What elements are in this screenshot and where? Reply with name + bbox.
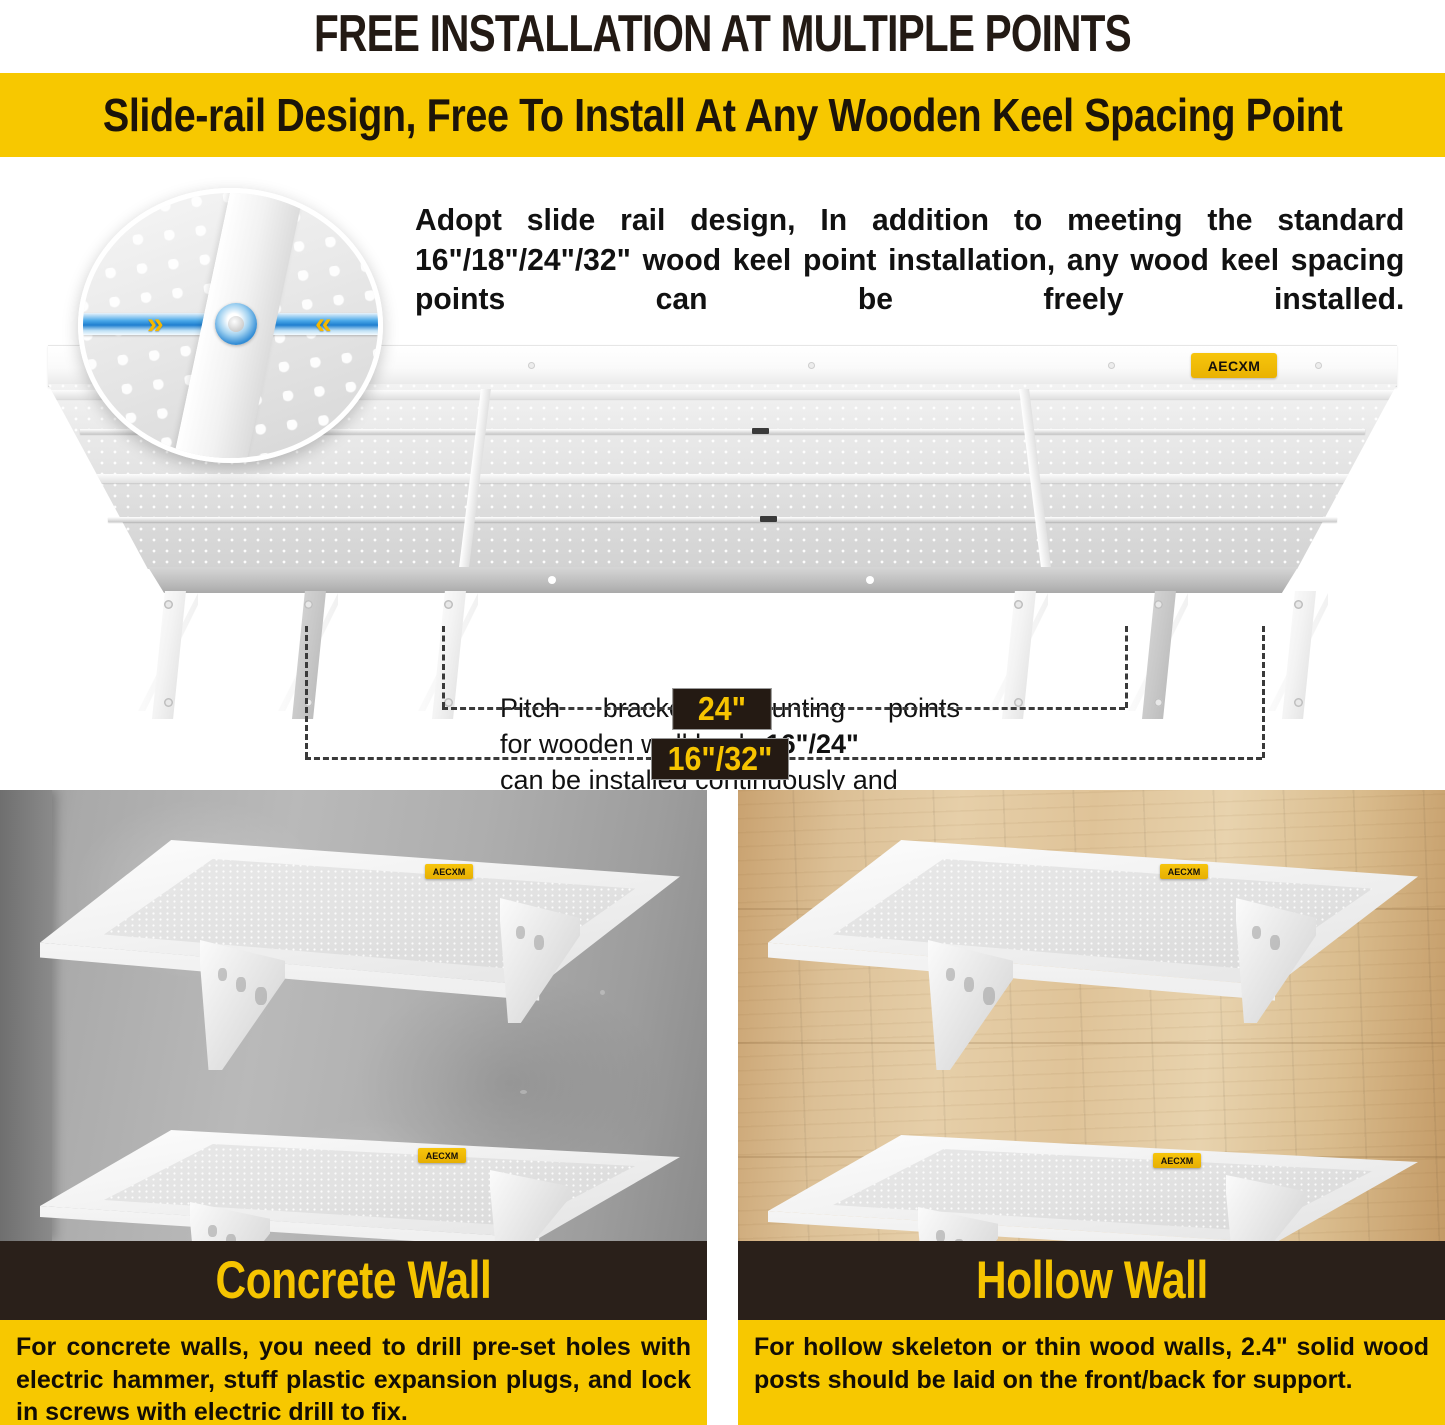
shelf-photo-upper: AECXM: [768, 840, 1418, 1110]
subtitle-banner: Slide-rail Design, Free To Install At An…: [0, 73, 1445, 157]
mounting-bracket: [432, 591, 466, 719]
slide-rail-zoom-inset: » «: [78, 188, 383, 463]
brand-badge: AECXM: [1191, 353, 1277, 378]
dimension-badge-16-32: 16"/32": [651, 738, 789, 780]
brand-badge: AECXM: [418, 1148, 466, 1163]
panel-body-hollow: For hollow skeleton or thin wood walls, …: [738, 1320, 1445, 1425]
dim1632-leader-right: [1262, 626, 1265, 758]
mounting-bracket: [1282, 591, 1316, 719]
rail-screw-icon: [1315, 362, 1322, 369]
arrow-left-icon: «: [315, 315, 326, 333]
dim24-leader-left: [442, 626, 445, 708]
panel-body-text: For concrete walls, you need to drill pr…: [16, 1331, 691, 1425]
panel-title-text: Hollow Wall: [976, 1250, 1208, 1311]
subtitle-text: Slide-rail Design, Free To Install At An…: [103, 88, 1342, 142]
rail-bolt-icon: [215, 303, 257, 345]
shelf-photo-lower: AECXM: [40, 1130, 680, 1241]
mounting-bracket: [292, 591, 326, 719]
arrow-right-icon: »: [147, 315, 158, 333]
brand-badge: AECXM: [1160, 864, 1208, 879]
rail-stop-icon: [760, 516, 777, 522]
panel-body-concrete: For concrete walls, you need to drill pr…: [0, 1320, 707, 1425]
page-title: FREE INSTALLATION AT MULTIPLE POINTS: [159, 0, 1286, 70]
lip-hole-icon: [548, 576, 556, 584]
shelf-front-lip: [148, 567, 1298, 593]
panel-title-hollow: Hollow Wall: [738, 1241, 1445, 1320]
mounting-bracket: [152, 591, 186, 719]
concrete-wall-photo: AECXM AECXM: [0, 790, 707, 1241]
panel-body-text: For hollow skeleton or thin wood walls, …: [754, 1331, 1429, 1396]
rail-screw-icon: [1108, 362, 1115, 369]
shelf-photo-lower: AECXM: [768, 1135, 1418, 1241]
mounting-bracket: [1142, 591, 1176, 719]
shelf-bracket: [928, 940, 1013, 1070]
dim24-line: [442, 707, 1125, 710]
shelf-photo-upper: AECXM: [40, 840, 680, 1110]
dimension-badge-24: 24": [672, 688, 771, 730]
brand-badge: AECXM: [1153, 1153, 1201, 1168]
panel-concrete-wall: AECXM AECXM Concrete Wall For concrete w…: [0, 790, 707, 1425]
mounting-bracket: [1002, 591, 1036, 719]
dim1632-leader-left: [305, 626, 308, 758]
rail-stop-icon: [752, 428, 769, 434]
panel-title-text: Concrete Wall: [216, 1250, 492, 1311]
panel-title-concrete: Concrete Wall: [0, 1241, 707, 1320]
infographic-page: FREE INSTALLATION AT MULTIPLE POINTS Sli…: [0, 0, 1445, 1425]
slide-rail-lower: [108, 517, 1337, 522]
rail-screw-icon: [808, 362, 815, 369]
shelf-bracket: [200, 940, 285, 1070]
lip-hole-icon: [866, 576, 874, 584]
wood-wall-photo: AECXM AECXM: [738, 790, 1445, 1241]
deck-band: [48, 474, 1397, 483]
brand-badge: AECXM: [425, 864, 473, 879]
dim24-leader-right: [1125, 626, 1128, 708]
rail-screw-icon: [528, 362, 535, 369]
panel-hollow-wall: AECXM AECXM Hollow Wall For hollow skele…: [738, 790, 1445, 1425]
